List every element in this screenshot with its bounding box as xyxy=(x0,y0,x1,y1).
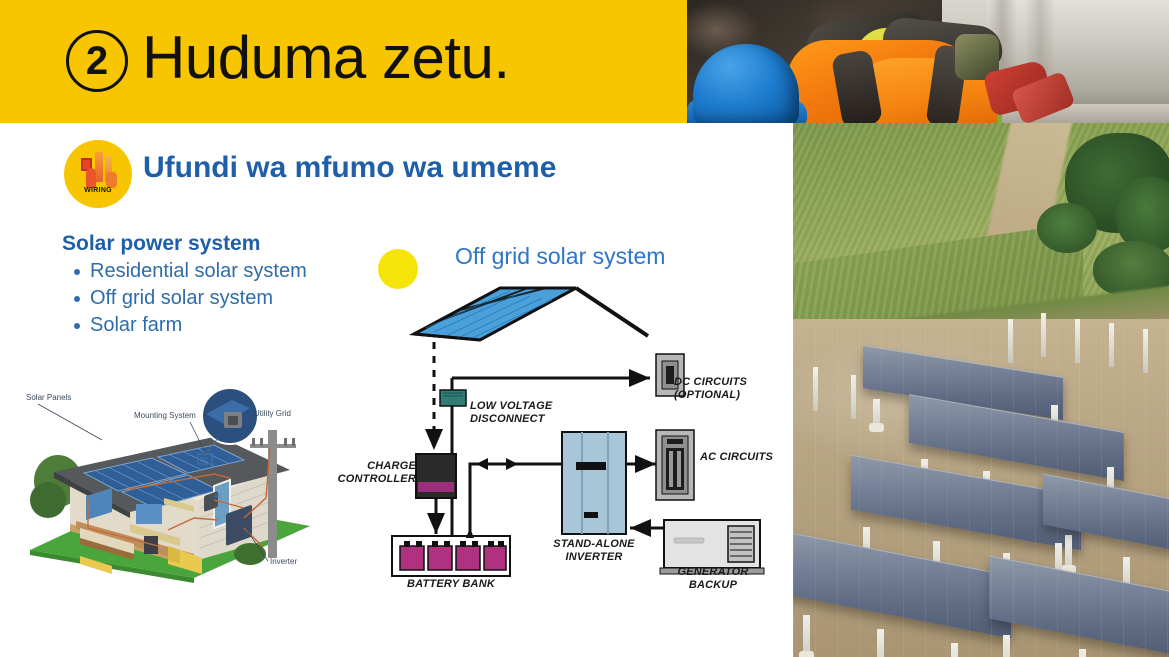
photo-fence-post xyxy=(813,367,818,411)
photo-panel-post xyxy=(873,399,880,429)
list-item: Residential solar system xyxy=(90,258,307,285)
diagram-solar-array xyxy=(414,288,648,340)
section-number-badge: 2 xyxy=(66,30,128,92)
photo-panel-post xyxy=(1003,635,1010,657)
label-utility-grid: Utility Grid xyxy=(254,409,291,418)
label-inverter: Inverter xyxy=(270,557,297,566)
label-ac-circuits: AC CIRCUITS xyxy=(700,451,810,464)
photo-panel-post xyxy=(877,629,884,657)
solar-power-system-heading: Solar power system xyxy=(62,232,260,256)
label-stand-alone-inverter: STAND-ALONE INVERTER xyxy=(536,538,652,564)
solar-farm-photo xyxy=(793,123,1169,657)
house-monitor xyxy=(136,504,162,524)
photo-panel-post xyxy=(1065,535,1072,571)
label-battery-bank: BATTERY BANK xyxy=(388,578,514,591)
photo-fence-post xyxy=(1075,319,1080,363)
label-charge-controller: CHARGE CONTROLLER xyxy=(334,460,416,486)
page-title: Huduma zetu. xyxy=(142,23,510,92)
diagram-battery-to-inverter xyxy=(470,464,552,536)
wiring-icon-label: WIRING xyxy=(64,187,132,194)
photo-bush-c xyxy=(1037,203,1097,253)
label-dc-circuits: DC CIRCUITS (OPTIONAL) xyxy=(674,376,784,402)
diagram-low-voltage-disconnect xyxy=(440,390,466,406)
label-ac: AC xyxy=(214,494,223,500)
section-subtitle: Ufundi wa mfumo wa umeme xyxy=(143,151,556,185)
photo-panel-post xyxy=(951,643,958,657)
label-generator-backup: GENERATOR BACKUP xyxy=(652,566,774,592)
diagram-battery-bank xyxy=(392,536,510,576)
list-item: Solar farm xyxy=(90,312,307,339)
off-grid-solar-diagram: Off grid solar system xyxy=(330,236,790,581)
photo-fence-post xyxy=(1143,329,1148,373)
solar-system-bullet-list: Residential solar system Off grid solar … xyxy=(62,258,307,339)
diagram-charge-controller xyxy=(416,454,456,498)
wiring-icon-pole-a xyxy=(95,152,103,182)
wiring-icon: WIRING xyxy=(64,140,132,208)
label-solar-panels: Solar Panels xyxy=(26,393,71,402)
photo-fence-post xyxy=(1109,323,1114,367)
wiring-icon-figure-a xyxy=(86,168,96,188)
list-item: Off grid solar system xyxy=(90,285,307,312)
photo-fence-post xyxy=(1008,319,1013,363)
slide-canvas: 2 Huduma zetu. xyxy=(0,0,1169,657)
photo-panel-post xyxy=(1079,649,1086,657)
wiring-icon-figure-b xyxy=(106,172,117,188)
label-mounting-system: Mounting System xyxy=(134,411,196,420)
house-shrub xyxy=(234,543,266,565)
diagram-stand-alone-inverter xyxy=(562,432,626,534)
label-dc: DC xyxy=(200,458,209,464)
photo-fence-post xyxy=(1041,313,1046,357)
diagram-ac-panel xyxy=(656,430,694,500)
label-low-voltage-disconnect: LOW VOLTAGE DISCONNECT xyxy=(470,400,600,426)
photo-panel-post xyxy=(803,615,810,657)
header-banner: 2 Huduma zetu. xyxy=(0,0,687,123)
photo-fence-post xyxy=(851,375,856,419)
residential-solar-house-illustration: Solar Panels Mounting System Utility Gri… xyxy=(18,378,318,583)
safety-gear-photo xyxy=(687,0,1169,123)
